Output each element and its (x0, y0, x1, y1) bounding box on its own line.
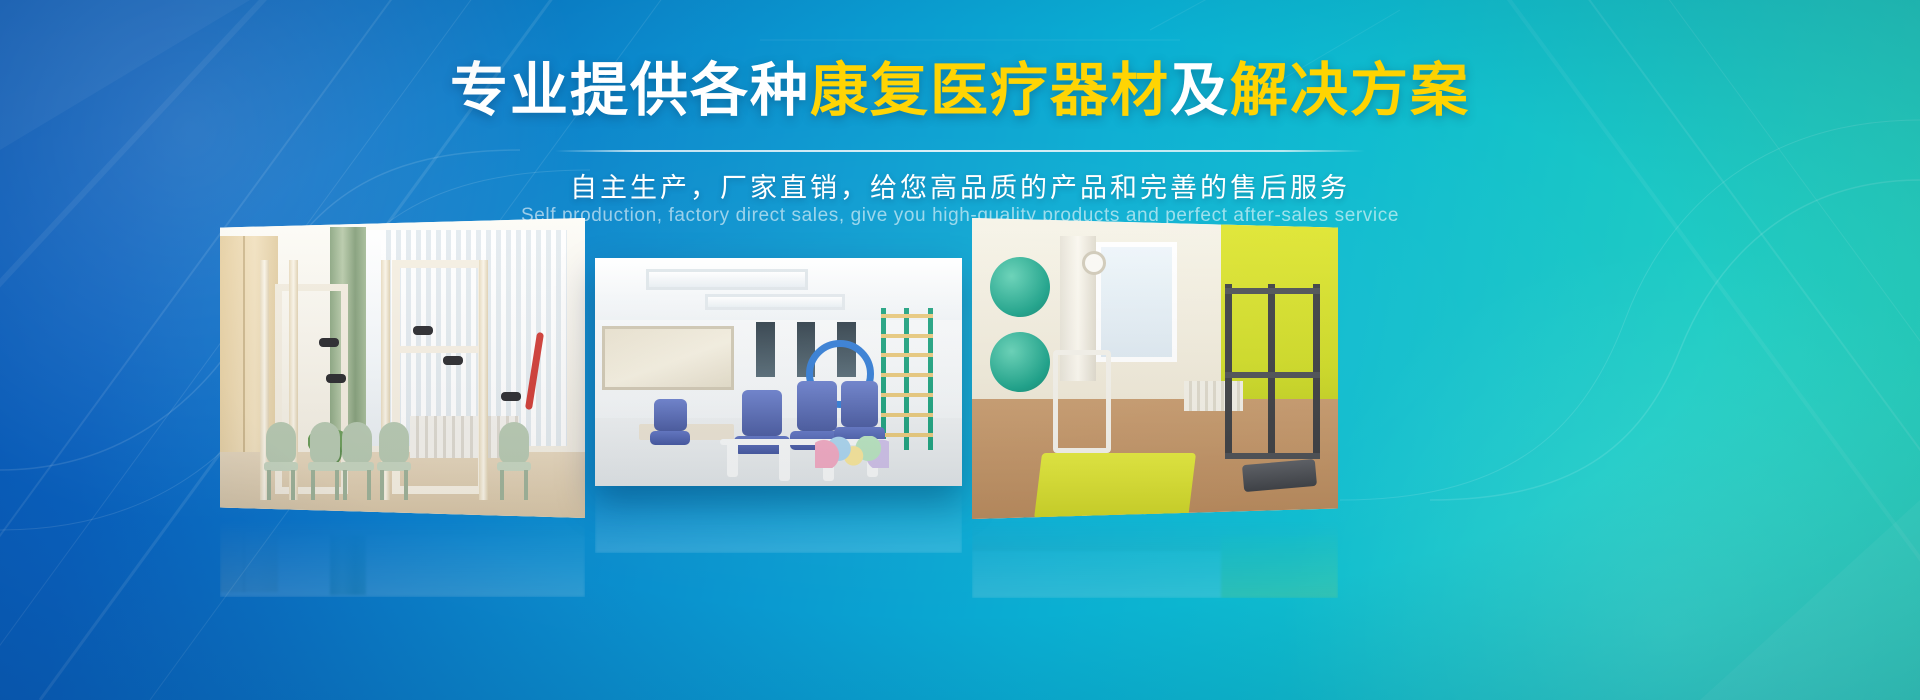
photo-gym-room-yellow-wall[interactable] (972, 218, 1338, 519)
photo-reflection-2 (595, 487, 962, 553)
photo-reflection-3 (972, 520, 1338, 598)
photo-therapy-hall-blue-chairs[interactable] (595, 258, 962, 486)
photo-rehab-room-wooden-frames[interactable] (220, 218, 585, 518)
photo-strip (0, 0, 1920, 700)
photo-reflection-1 (220, 519, 585, 597)
promotional-banner: 专业提供各种康复医疗器材及解决方案 自主生产，厂家直销，给您高品质的产品和完善的… (0, 0, 1920, 700)
